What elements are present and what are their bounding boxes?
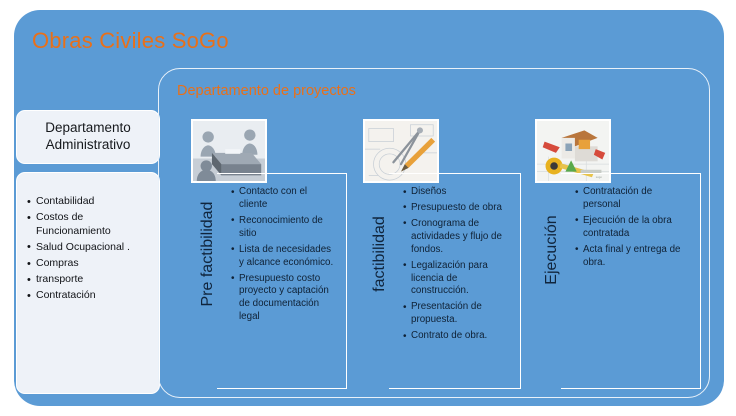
list-item: Lista de necesidades y alcance económico… bbox=[231, 244, 338, 270]
list-item: Contacto con el cliente bbox=[231, 186, 338, 212]
list-item: Costos de Funcionamiento bbox=[27, 211, 151, 238]
list-item: Contrato de obra. bbox=[403, 330, 512, 343]
phase-items-factibilidad: DiseñosPresupuesto de obraCronograma de … bbox=[389, 173, 521, 389]
list-item: Salud Ocupacional . bbox=[27, 241, 151, 255]
list-item: transporte bbox=[27, 273, 151, 287]
page-title: Obras Civiles SoGo bbox=[32, 28, 229, 54]
phase-factibilidad: factibilidad DiseñosPresupuesto de obraC… bbox=[349, 119, 521, 389]
list-item: Presentación de propuesta. bbox=[403, 301, 512, 327]
phase-label-ejecucion: Ejecución bbox=[543, 175, 561, 325]
projects-department-panel: Departamento de proyectos bbox=[158, 68, 710, 398]
list-item: Ejecución de la obra contratada bbox=[575, 215, 692, 241]
administrative-department-column: Departamento Administrativo Contabilidad… bbox=[16, 110, 160, 396]
list-item: Presupuesto costo proyecto y captación d… bbox=[231, 273, 338, 325]
projects-department-title: Departamento de proyectos bbox=[177, 83, 356, 99]
list-item: Contratación de personal bbox=[575, 186, 692, 212]
phase-label-pre-factibilidad: Pre factibilidad bbox=[199, 179, 217, 329]
list-item: Cronograma de actividades y flujo de fon… bbox=[403, 218, 512, 257]
phase-items-ejecucion: Contratación de personalEjecución de la … bbox=[561, 173, 701, 389]
list-item: Contabilidad bbox=[27, 195, 151, 209]
phase-items-pre-factibilidad: Contacto con el clienteReconocimiento de… bbox=[217, 173, 347, 389]
list-item: Contratación bbox=[27, 289, 151, 303]
diagram-outer-panel: Obras Civiles SoGo Departamento Administ… bbox=[14, 10, 724, 406]
list-item: Acta final y entrega de obra. bbox=[575, 244, 692, 270]
list-item: Diseños bbox=[403, 186, 512, 199]
phase-ejecucion: sogo Ejecución Contratación de personalE… bbox=[521, 119, 701, 389]
phase-label-factibilidad: factibilidad bbox=[371, 179, 389, 329]
list-item: Presupuesto de obra bbox=[403, 202, 512, 215]
administrative-department-list: ContabilidadCostos de FuncionamientoSalu… bbox=[16, 172, 160, 394]
administrative-department-title: Departamento Administrativo bbox=[16, 110, 160, 164]
list-item: Legalización para licencia de construcci… bbox=[403, 260, 512, 299]
phase-pre-factibilidad: Pre factibilidad Contacto con el cliente… bbox=[177, 119, 347, 389]
list-item: Compras bbox=[27, 257, 151, 271]
list-item: Reconocimiento de sitio bbox=[231, 215, 338, 241]
